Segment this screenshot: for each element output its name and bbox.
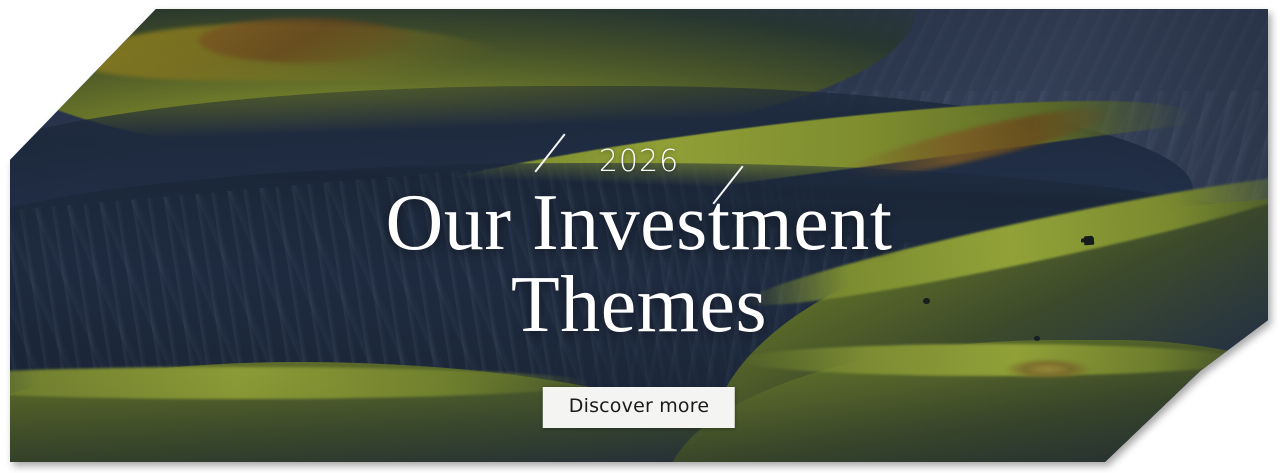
hero-clipped-frame: 2026 Our Investment Themes Discover more [10,9,1268,462]
hero-banner: 2026 Our Investment Themes Discover more [10,9,1268,462]
page-title: Our Investment Themes [10,183,1268,346]
page-title-line-2: Themes [10,265,1268,347]
slash-left-icon [534,133,565,172]
hero-banner-stage: 2026 Our Investment Themes Discover more [0,0,1280,473]
page-title-line-1: Our Investment [386,179,893,267]
hero-content: 2026 Our Investment Themes Discover more [10,9,1268,462]
year-label: 2026 [599,147,679,177]
discover-more-button[interactable]: Discover more [543,387,735,428]
